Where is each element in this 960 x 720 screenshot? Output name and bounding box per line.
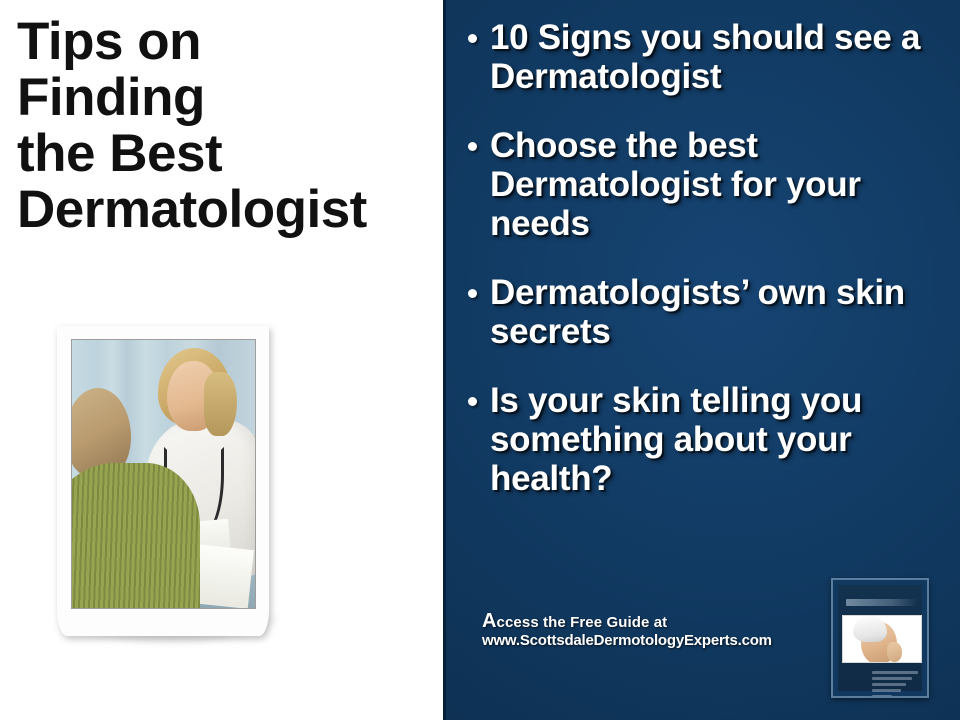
guide-cover-text-lines [872, 671, 918, 698]
page-title: Tips on Finding the Best Dermatologist [17, 14, 437, 238]
presentation-slide: Tips on Finding the Best Dermatologist [0, 0, 960, 720]
photo-patient-sweater [72, 463, 200, 608]
photo-frame [57, 326, 269, 636]
footer-website-url[interactable]: www.ScottsdaleDermotologyExperts.com [482, 632, 812, 650]
list-item: Is your skin telling you something about… [464, 381, 960, 498]
guide-cover-hand [887, 642, 902, 662]
list-item: Dermatologists’ own skin secrets [464, 273, 960, 351]
photo-image [72, 340, 255, 608]
guide-cover-towel [853, 616, 887, 642]
free-guide-cover-thumbnail[interactable] [831, 578, 929, 698]
footer-access-rest: ccess [497, 614, 539, 631]
list-item: 10 Signs you should see a Dermatologist [464, 18, 960, 96]
footer-access-capital: A [482, 610, 497, 632]
guide-cover-line [872, 683, 906, 686]
list-item: Choose the best Dermatologist for your n… [464, 126, 960, 243]
left-content-panel: Tips on Finding the Best Dermatologist [0, 0, 443, 720]
footer-access-line: Access the Free Guide at [482, 612, 812, 632]
consultation-photo [57, 326, 287, 646]
guide-cover-inner [838, 585, 922, 691]
guide-cover-line [872, 677, 912, 680]
photo-doctor-hair-side [204, 372, 237, 436]
footer-access-tail: the Free Guide at [539, 614, 668, 631]
guide-cover-title-bar [846, 599, 918, 606]
guide-cover-line [872, 689, 901, 692]
guide-cover-line [872, 671, 918, 674]
guide-cover-photo [842, 615, 922, 663]
footer-call-to-action: Access the Free Guide at www.ScottsdaleD… [482, 612, 812, 650]
right-bullet-panel: 10 Signs you should see a Dermatologist … [443, 0, 960, 720]
bullet-list: 10 Signs you should see a Dermatologist … [464, 18, 960, 528]
guide-cover-line [872, 695, 892, 698]
